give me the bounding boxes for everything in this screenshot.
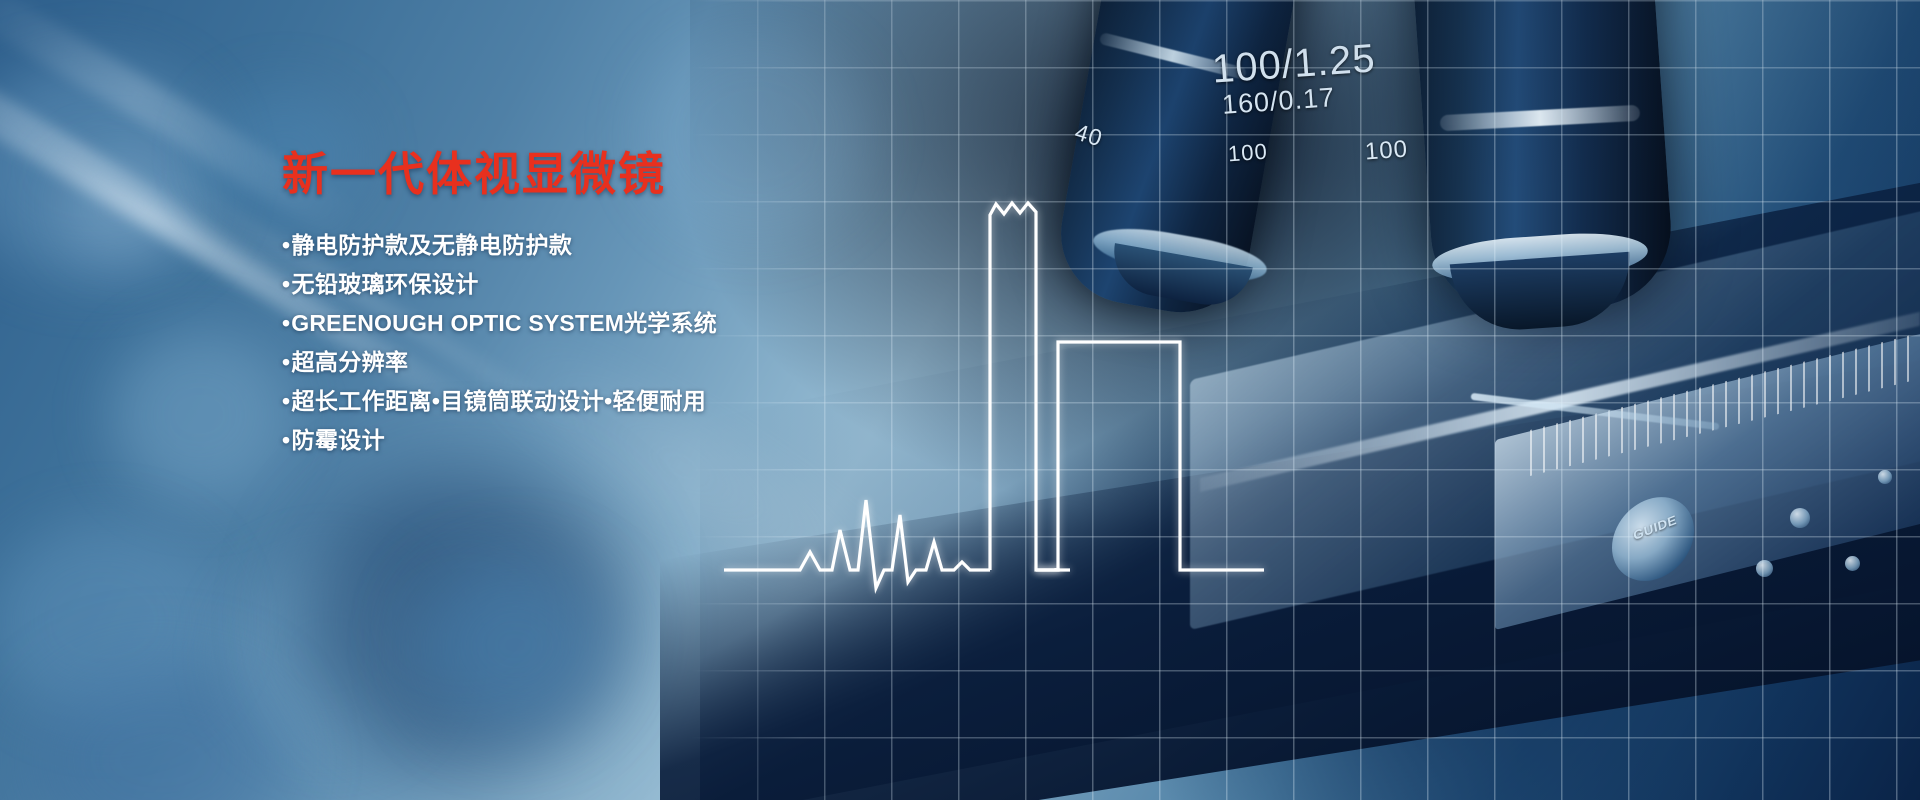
stage-screw	[1756, 560, 1773, 577]
objective-label-secondary: 100	[1227, 139, 1268, 168]
bokeh-blob	[110, 330, 290, 500]
list-item: •防霉设计	[282, 429, 752, 452]
bullet-marker: •	[282, 388, 290, 414]
list-item-label: 静电防护款及无静电防护款	[291, 232, 572, 258]
objective-label-tertiary: 100	[1364, 136, 1409, 167]
list-item: •GREENOUGH OPTIC SYSTEM光学系统	[282, 312, 752, 335]
stage-screw	[1845, 556, 1860, 571]
bullet-marker: •	[282, 232, 290, 258]
list-item-label: GREENOUGH OPTIC SYSTEM光学系统	[291, 310, 717, 336]
list-item-label: 无铅玻璃环保设计	[291, 271, 478, 297]
list-item: •超长工作距离•目镜筒联动设计•轻便耐用	[282, 390, 752, 413]
bullet-marker: •	[282, 271, 290, 297]
bokeh-blob	[420, 560, 610, 730]
product-banner: GUIDE 100/1.25 160/0.17 100 100 40	[0, 0, 1920, 800]
bullet-marker: •	[282, 427, 290, 453]
list-item: •静电防护款及无静电防护款	[282, 234, 752, 257]
stage-screw	[1878, 470, 1892, 484]
bullet-marker: •	[282, 310, 290, 336]
stage-screw	[1790, 508, 1810, 528]
list-item: •无铅玻璃环保设计	[282, 273, 752, 296]
bullet-marker: •	[282, 349, 290, 375]
list-item: •超高分辨率	[282, 351, 752, 374]
banner-copy: 新一代体视显微镜 •静电防护款及无静电防护款 •无铅玻璃环保设计 •GREENO…	[282, 150, 752, 468]
list-item-label: 超高分辨率	[291, 349, 408, 375]
feature-list: •静电防护款及无静电防护款 •无铅玻璃环保设计 •GREENOUGH OPTIC…	[282, 234, 752, 452]
list-item-label: 超长工作距离•目镜筒联动设计•轻便耐用	[291, 388, 706, 414]
list-item-label: 防霉设计	[291, 427, 385, 453]
page-title: 新一代体视显微镜	[282, 150, 752, 198]
